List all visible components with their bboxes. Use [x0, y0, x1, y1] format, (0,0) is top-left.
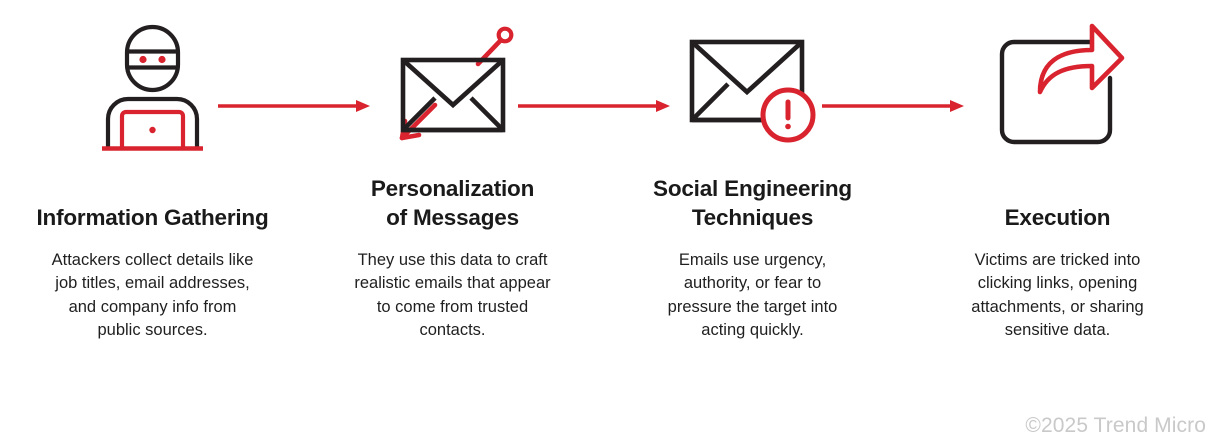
copyright-notice: ©2025 Trend Micro — [1025, 414, 1206, 438]
step-description: Emails use urgency, authority, or fear t… — [668, 249, 838, 343]
flow-arrow-1 — [218, 96, 370, 116]
flow-arrow-2 — [518, 96, 670, 116]
envelope-with-needle-icon — [300, 0, 605, 175]
step-personalization-of-messages: Personalization of Messages They use thi… — [300, 0, 605, 360]
flow-arrow-3 — [822, 96, 964, 116]
envelope-with-alert-icon — [600, 0, 905, 175]
step-description: Victims are tricked into clicking links,… — [971, 249, 1143, 343]
page-title: Social Engineering Techniques — [653, 174, 852, 233]
step-description: They use this data to craft realistic em… — [354, 249, 550, 343]
step-description-wrapper: Victims are tricked into clicking links,… — [905, 233, 1210, 343]
step-information-gathering: Information Gathering Attackers collect … — [0, 0, 305, 360]
step-description-wrapper: Emails use urgency, authority, or fear t… — [600, 233, 905, 343]
page-title: Personalization of Messages — [371, 174, 534, 233]
phishing-attack-flow-infographic: Information Gathering Attackers collect … — [0, 0, 1220, 444]
step-title-wrapper: Information Gathering — [0, 175, 305, 233]
step-title-wrapper: Execution — [905, 175, 1210, 233]
step-description-wrapper: They use this data to craft realistic em… — [300, 233, 605, 343]
step-description-wrapper: Attackers collect details like job title… — [0, 233, 305, 343]
step-description: Attackers collect details like job title… — [52, 249, 254, 343]
page-title: Information Gathering — [36, 203, 268, 233]
hacker-with-laptop-icon — [0, 0, 305, 175]
share-arrow-out-of-box-icon — [905, 0, 1210, 175]
page-title: Execution — [1005, 203, 1111, 233]
step-execution: Execution Victims are tricked into click… — [905, 0, 1210, 360]
step-social-engineering-techniques: Social Engineering Techniques Emails use… — [600, 0, 905, 360]
step-title-wrapper: Personalization of Messages — [300, 175, 605, 233]
step-title-wrapper: Social Engineering Techniques — [600, 175, 905, 233]
